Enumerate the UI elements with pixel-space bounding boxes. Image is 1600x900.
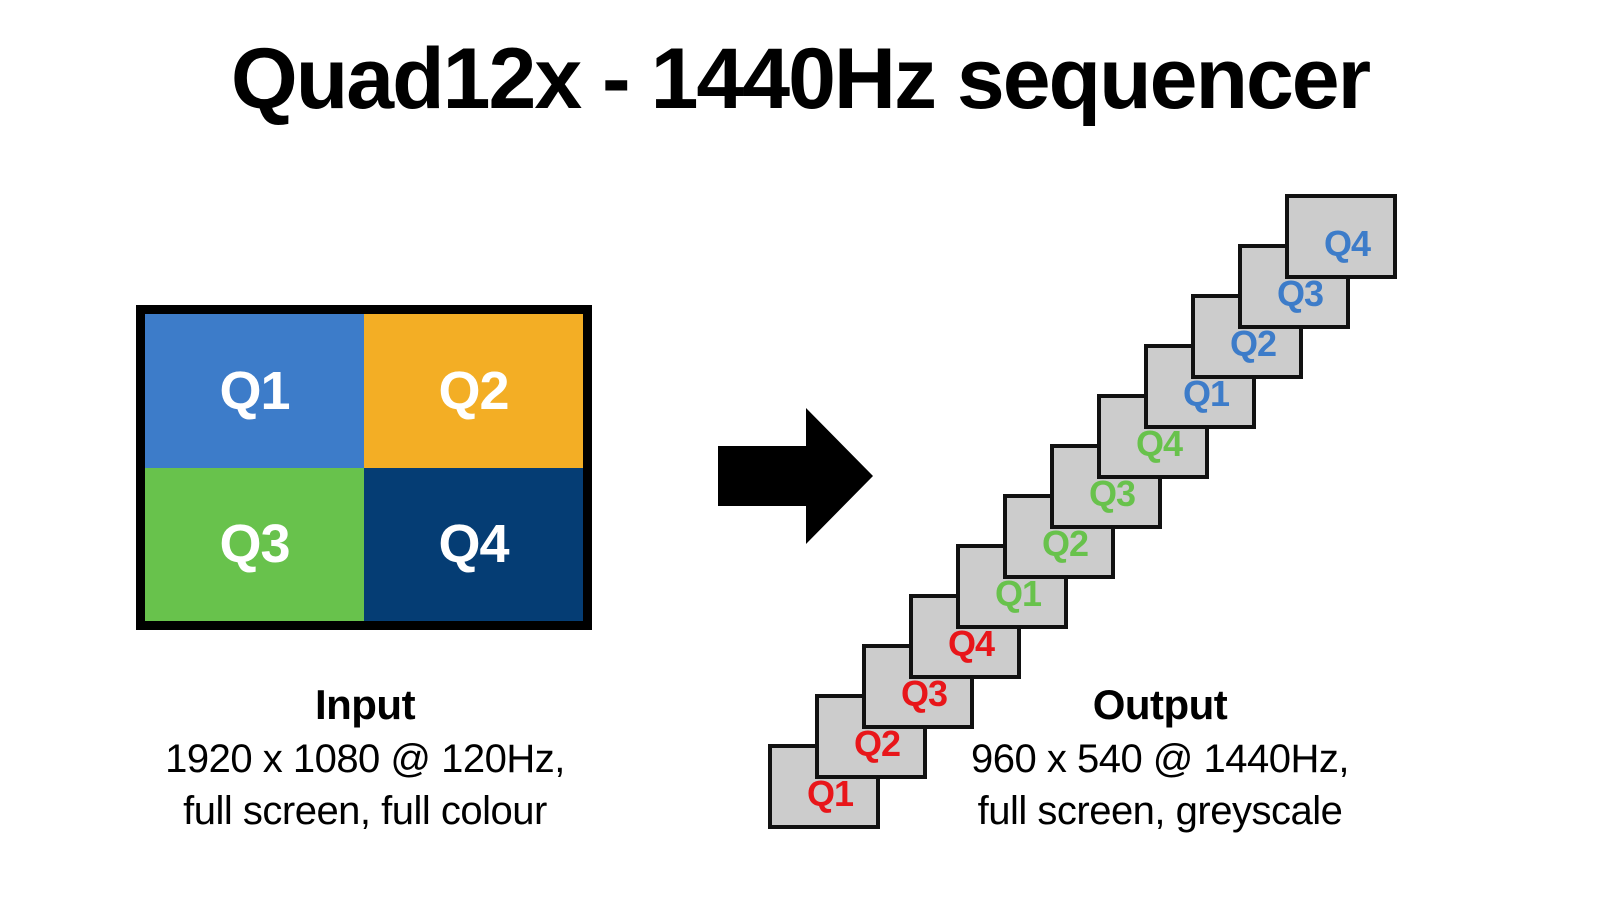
input-caption-title: Input — [130, 678, 600, 733]
output-frame-label: Q4 — [1136, 426, 1182, 462]
output-frame: Q4 — [1285, 194, 1397, 279]
input-caption-line2: full screen, full colour — [130, 785, 600, 837]
input-caption-line1: 1920 x 1080 @ 120Hz, — [130, 733, 600, 785]
output-caption-line1: 960 x 540 @ 1440Hz, — [910, 733, 1410, 785]
output-frame-label: Q2 — [1042, 526, 1088, 562]
output-frame-label: Q3 — [1277, 276, 1323, 312]
output-frame-label: Q4 — [1324, 226, 1370, 262]
output-frame-label: Q2 — [1230, 326, 1276, 362]
output-caption: Output 960 x 540 @ 1440Hz, full screen, … — [910, 678, 1410, 837]
output-caption-line2: full screen, greyscale — [910, 785, 1410, 837]
output-caption-title: Output — [910, 678, 1410, 733]
diagram-canvas: Quad12x - 1440Hz sequencer Q1 Q2 Q3 Q4 Q… — [0, 0, 1600, 900]
output-frame-label: Q2 — [854, 726, 900, 762]
output-frame-label: Q3 — [1089, 476, 1135, 512]
input-caption: Input 1920 x 1080 @ 120Hz, full screen, … — [130, 678, 600, 837]
output-frame-label: Q1 — [1183, 376, 1229, 412]
output-frame-label: Q3 — [901, 676, 947, 712]
output-frame-label: Q1 — [995, 576, 1041, 612]
output-frame-label: Q4 — [948, 626, 994, 662]
output-frame-label: Q1 — [807, 776, 853, 812]
